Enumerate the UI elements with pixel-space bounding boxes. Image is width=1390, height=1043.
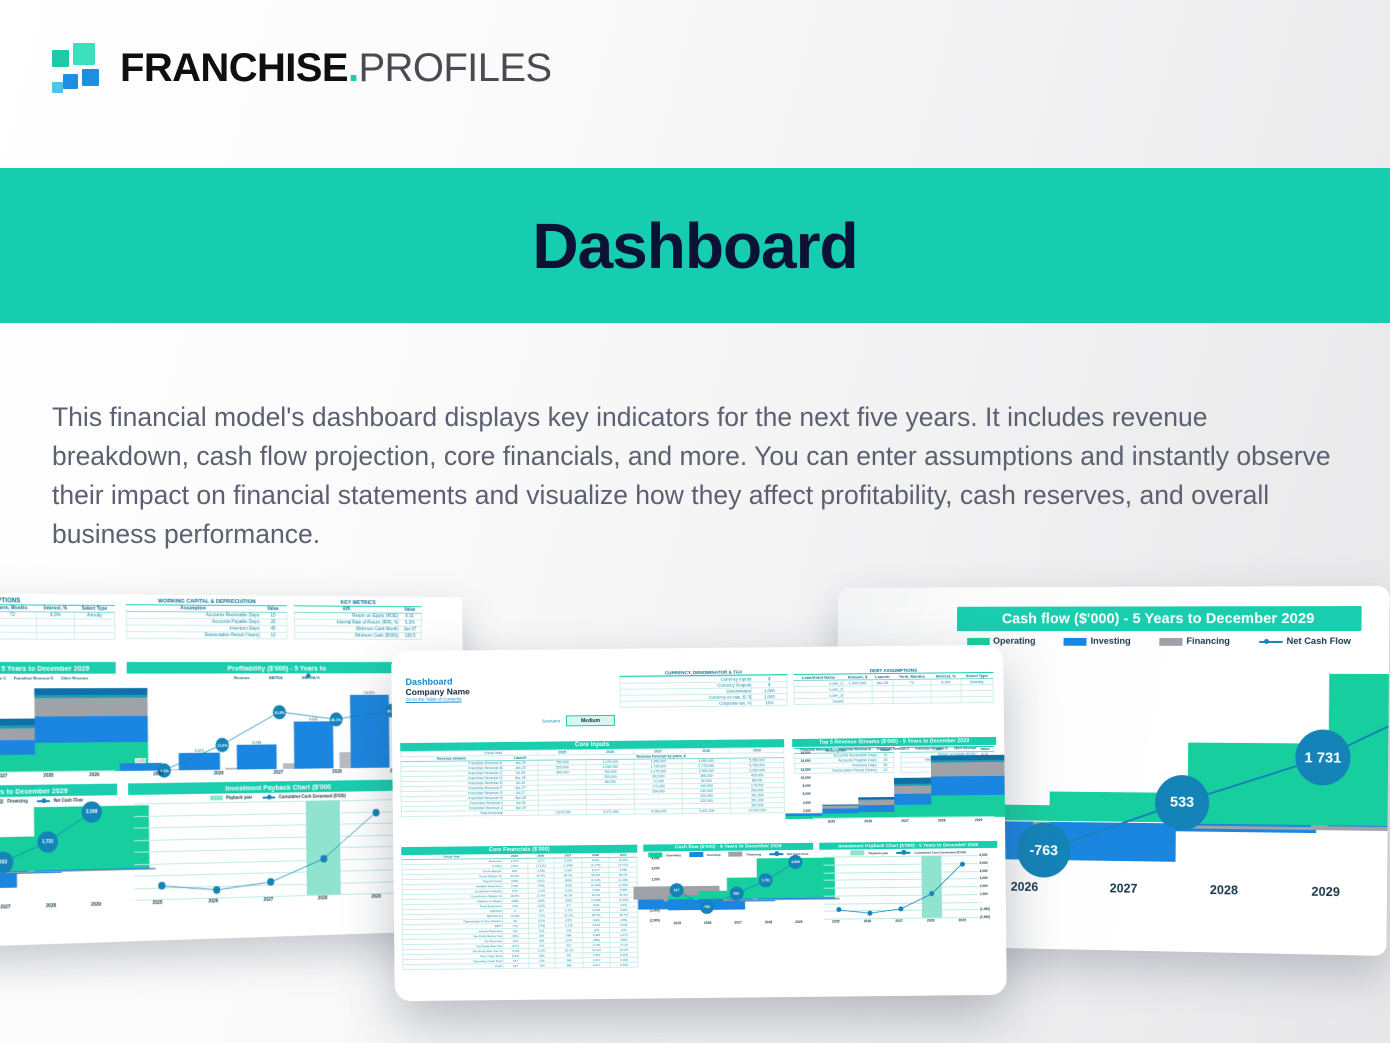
ebitda-percent-label: 26.1%: [329, 712, 342, 726]
core-financials-section: Core Financials ($'000) Fiscal Year20252…: [401, 845, 638, 970]
table-cell: 917: [503, 963, 529, 968]
legend-item[interactable]: EBITDA: [269, 675, 283, 680]
legend-label: Net Cash Flow: [54, 798, 83, 803]
legend-label: Financing: [746, 852, 761, 856]
legend-item[interactable]: Financing: [1159, 636, 1230, 647]
y-axis-label: 10,000: [783, 776, 811, 780]
legend-label: Franchise Revenue C: [877, 747, 909, 751]
profitability-chart-left[interactable]: Profitability ($'000) - 5 Years to Reven…: [127, 662, 424, 781]
x-axis-label: 2027: [0, 904, 28, 911]
legend-label: Payback year: [226, 795, 252, 800]
y-axis-label: -: [978, 899, 996, 903]
table-cell: [843, 698, 872, 704]
legend-label: Operating: [666, 853, 681, 857]
y-axis-label: (1,000): [978, 907, 996, 911]
center-top5-chart[interactable]: Top 5 Revenue Streams ($'000) - 5 Years …: [792, 737, 997, 827]
net-cash-flow-label: -763: [699, 900, 713, 914]
legend-swatch-line: [263, 796, 275, 798]
screenshot-panel-center[interactable]: Dashboard Company Name Go to the Table o…: [391, 645, 1007, 1001]
currency-table: CURRENCY, DENOMINATOR & TAX Currency Inp…: [619, 669, 787, 708]
legend-swatch: [689, 852, 703, 857]
legend-swatch-line: [896, 851, 910, 853]
ebitda-percent-label: 13.2%: [216, 737, 230, 751]
x-axis-label: 2027: [887, 819, 924, 823]
table-of-contents-link[interactable]: Go to the Table of Contents: [406, 696, 470, 702]
x-axis-label: 2029: [784, 920, 814, 924]
legend-label: Other Revenue: [61, 676, 89, 681]
debt-assumptions-table: DEBT ASSUMPTIONS Loan/Grant NameAmount, …: [0, 596, 115, 639]
table-row[interactable]: Grant: [0, 632, 115, 640]
x-axis-label: 2029: [1275, 883, 1378, 900]
y-axis-label: 5,000: [977, 861, 995, 865]
table-cell: Cash: [403, 964, 503, 970]
net-cash-flow-label: -763: [1017, 823, 1071, 879]
core-inputs-section: Core Inputs Fiscal Year20252026202720282…: [400, 739, 785, 817]
legend-item[interactable]: Franchise Revenue C: [0, 676, 6, 681]
table-cell: [37, 632, 75, 639]
legend-swatch: [210, 795, 223, 800]
y-axis-label: (2,000): [632, 918, 660, 922]
table-row[interactable]: Corporate tax, %15%: [620, 700, 787, 708]
x-axis-label: 2028: [923, 818, 960, 822]
page-title-band: Dashboard: [0, 168, 1390, 323]
net-cash-flow-label: 3,508: [788, 855, 802, 869]
x-axis-label: 2025: [813, 819, 850, 823]
legend-label: EBITDA: [269, 675, 283, 680]
legend-swatch: [0, 799, 4, 804]
y-axis-label: 16,000: [782, 751, 810, 755]
legend-item[interactable]: Financing: [0, 799, 28, 804]
table-cell: 5,054,000: [635, 809, 683, 815]
y-axis-label: 4,000: [631, 856, 659, 860]
center-cashflow-chart[interactable]: Cash flow ($'000) - 5 Years to December …: [643, 843, 814, 929]
legend-item[interactable]: Payback year: [850, 850, 888, 855]
y-axis-label: 6,000: [783, 792, 811, 796]
table-cell: 3,471,000: [587, 809, 635, 815]
x-axis-label: 2029: [946, 918, 978, 922]
legend-label: Cumulative Cash Generated ($'000): [279, 793, 346, 799]
legend-swatch: [850, 850, 864, 855]
x-axis-label: 2027: [241, 896, 296, 903]
table-cell: Minimum Cash ($'000): [295, 632, 399, 639]
data-point[interactable]: [372, 809, 379, 817]
table-cell: [503, 810, 539, 815]
legend-label: Franchise Revenue D: [14, 676, 54, 681]
legend-label: Financing: [1186, 636, 1230, 647]
legend-item[interactable]: Cumulative Cash Generated ($'000): [896, 850, 966, 855]
table-cell: Total Revenue: [401, 811, 502, 817]
table-header-row: Loan/Grant NameAmount, $LaunchTerm, Mont…: [0, 604, 115, 612]
legend-item[interactable]: Other Revenue: [954, 746, 977, 750]
table-cell: 14,920,000: [731, 808, 785, 814]
brand-name-bold: FRANCHISE: [120, 46, 348, 90]
working-capital-table: WORKING CAPITAL & DEPRECIATION Assumptio…: [126, 598, 287, 639]
data-point[interactable]: [929, 891, 934, 896]
ebitda-percent-label: 30.2%: [273, 705, 286, 719]
data-point[interactable]: [898, 906, 903, 911]
legend-item[interactable]: Financing: [728, 851, 761, 856]
bar-segment[interactable]: [931, 762, 1007, 777]
x-axis-label: 2028: [308, 769, 366, 775]
legend-item[interactable]: Payback year: [210, 795, 252, 800]
table-cell: 2,917: [583, 962, 611, 967]
bar-segment[interactable]: [931, 795, 1007, 818]
legend-swatch: [1064, 637, 1087, 645]
legend-label: Cumulative Cash Generated ($'000): [914, 850, 966, 855]
legend-label: Investing: [1091, 636, 1131, 647]
y-axis-label: 3,000: [978, 876, 996, 880]
legend-label: Payback year: [868, 851, 888, 855]
legend-label: Franchise Revenue B: [839, 747, 871, 751]
legend-item[interactable]: Franchise Revenue D: [14, 676, 54, 681]
table-row[interactable]: Minimum Cash ($'000)130.5: [295, 632, 422, 639]
page-title: Dashboard: [532, 209, 857, 283]
center-subtitle: Company Name: [406, 686, 470, 697]
y-axis-label: (2,000): [978, 915, 996, 919]
x-axis-label: 2026: [692, 921, 722, 925]
x-axis-label: 2025: [129, 899, 185, 906]
table-cell: Corporate tax, %: [620, 700, 752, 707]
top5-revenue-chart[interactable]: Top 5 Revenue Streams ($'000) - 5 Years …: [0, 662, 117, 784]
x-axis-label: 2027: [1074, 880, 1174, 896]
legend-swatch-line: [37, 800, 50, 802]
brand-name-thin: PROFILES: [358, 46, 551, 90]
table-cell: 10: [259, 632, 286, 639]
legend-item[interactable]: Franchise Revenue D: [915, 746, 947, 750]
table-cell: [872, 697, 893, 703]
legend-label: Investing: [707, 852, 721, 856]
table-row[interactable]: Grant: [794, 696, 993, 704]
center-debt-table: DEBT ASSUMPTIONS Loan/Grant NameAmount, …: [793, 667, 993, 705]
y-axis-label: 6,000: [977, 853, 995, 857]
y-axis-label: 8,000: [783, 784, 811, 788]
x-axis-label: 2026: [850, 819, 887, 823]
center-title: Dashboard: [405, 676, 469, 687]
legend-swatch-line: [769, 853, 783, 855]
legend-item[interactable]: Franchise Revenue B: [839, 747, 871, 751]
intro-paragraph: This financial model's dashboard display…: [52, 398, 1342, 554]
legend-swatch: [728, 852, 742, 857]
bar-segment[interactable]: [931, 755, 1007, 761]
net-cash-flow-label: 1,731: [759, 874, 773, 888]
bar-segment[interactable]: [931, 775, 1007, 796]
legend-label: Revenue: [234, 675, 250, 680]
legend-item[interactable]: Investing: [689, 852, 721, 857]
table-row[interactable]: Cash9171549802,9175,925: [403, 962, 638, 969]
top5-revenue-title: Top 5 Revenue Streams ($'000) - 5 Years …: [0, 662, 116, 674]
table-cell: 980: [555, 963, 583, 968]
x-axis-label: 2028: [915, 918, 947, 922]
legend-item[interactable]: Net Cash Flow: [37, 798, 83, 804]
table-cell: [931, 697, 961, 703]
net-cash-flow-label: 533: [729, 886, 743, 900]
x-axis-label: 2026: [852, 919, 884, 923]
data-point[interactable]: [868, 911, 873, 916]
legend-label: Franchise Revenue D: [915, 746, 947, 750]
table-cell: 130.5: [398, 633, 421, 640]
legend-label: Operating: [993, 636, 1036, 647]
x-axis-label: 2028: [295, 895, 349, 902]
x-axis-label: 2026: [185, 898, 240, 905]
center-card-heading: Dashboard Company Name Go to the Table o…: [405, 676, 470, 702]
x-axis-label: 2029: [71, 772, 117, 778]
x-axis-label: 2028: [1174, 882, 1275, 899]
table-cell: Grant: [794, 698, 843, 705]
y-axis-label: 12,000: [782, 767, 810, 771]
legend-label: Net Cash Flow: [1287, 636, 1351, 647]
table-cell: Depreciation Period (Years): [127, 632, 260, 639]
legend-item[interactable]: Other Revenue: [61, 676, 89, 681]
center-payback-chart[interactable]: Investment Payback Chart ($'000) - 5 Yea…: [819, 841, 998, 927]
table-cell: 154: [528, 963, 555, 968]
x-axis-label: 2027: [0, 773, 25, 779]
x-axis-label: 2029: [960, 818, 997, 822]
x-axis-label: 2027: [249, 770, 308, 776]
scenario-label: Scenario: [542, 718, 560, 723]
data-point[interactable]: [837, 907, 842, 912]
table-cell: [893, 697, 931, 703]
squares-mosaic-icon: [52, 42, 104, 94]
y-axis-label: 3,000: [631, 867, 659, 871]
legend-label: Franchise Revenue C: [0, 676, 6, 681]
table-cell: 1,575,000: [539, 810, 587, 816]
net-cash-flow-label: 917: [670, 883, 684, 897]
cashflow-chart-left[interactable]: Cash flow ($'000) - 5 Years to December …: [0, 784, 119, 918]
x-axis-label: 2025: [662, 921, 692, 925]
x-axis-label: 2029: [74, 901, 119, 908]
table-cell: 15%: [752, 700, 788, 706]
data-point[interactable]: [960, 861, 965, 866]
cashflow-title-right: Cash flow ($'000) - 5 Years to December …: [957, 606, 1362, 631]
y-axis-label: 2,000: [978, 884, 996, 888]
scenario-value[interactable]: Medium: [566, 715, 615, 727]
scenario-selector[interactable]: Scenario Medium: [542, 715, 615, 727]
ebitda-percent-line: [134, 682, 420, 771]
x-axis-label: 2025: [820, 919, 852, 923]
legend-label: EBITDA %: [302, 675, 320, 680]
y-axis-label: 4,000: [783, 800, 811, 804]
table-cell: 9,641,000: [683, 808, 731, 814]
y-axis-label: 2,000: [632, 877, 660, 881]
legend-label: Other Revenue: [954, 746, 977, 750]
legend-item[interactable]: Revenue: [234, 675, 250, 680]
profitability-title-left: Profitability ($'000) - 5 Years to: [127, 662, 423, 674]
x-axis-label: 2028: [25, 773, 71, 779]
legend-item[interactable]: EBITDA %: [302, 675, 320, 680]
table-cell: [0, 632, 37, 639]
net-cash-flow-label: 1 731: [1295, 730, 1351, 786]
brand-name-dot: .: [348, 46, 359, 90]
table-cell: 5,925: [610, 962, 638, 967]
table-cell: [961, 696, 993, 702]
legend-item[interactable]: Cumulative Cash Generated ($'000): [263, 793, 346, 799]
table-row[interactable]: Depreciation Period (Years)10: [127, 632, 287, 639]
x-axis-label: 2025: [128, 771, 189, 778]
x-axis-label: 2027: [883, 919, 915, 923]
legend-swatch: [1159, 637, 1182, 645]
x-axis-label: 2027: [723, 920, 753, 924]
x-axis-label: 2028: [28, 903, 73, 910]
brand-logo: FRANCHISE.PROFILES: [52, 42, 552, 94]
legend-item[interactable]: Net Cash Flow: [769, 851, 808, 855]
legend-item[interactable]: Franchise Revenue C: [877, 747, 909, 751]
x-axis-label: 2026: [189, 770, 249, 777]
key-metrics-table: KEY METRICS KPIValueReturn on Equity (RO…: [294, 600, 422, 640]
payback-chart-left[interactable]: Investment Payback Chart ($'000 Payback …: [128, 779, 425, 909]
net-cash-flow-label: 533: [1155, 775, 1210, 831]
table-cell: [74, 632, 114, 639]
legend-item[interactable]: Net Cash Flow: [1259, 636, 1351, 647]
column-header: Amount, $: [843, 674, 872, 680]
y-axis-label: 14,000: [782, 759, 810, 763]
legend-swatch-line: [1259, 640, 1282, 642]
brand-wordmark: FRANCHISE.PROFILES: [120, 48, 552, 88]
y-axis-label: 1,000: [978, 892, 996, 896]
x-axis-label: 2028: [753, 920, 783, 924]
legend-label: Financing: [7, 799, 27, 804]
y-axis-label: 4,000: [977, 868, 995, 872]
legend-item[interactable]: Investing: [1064, 636, 1131, 647]
